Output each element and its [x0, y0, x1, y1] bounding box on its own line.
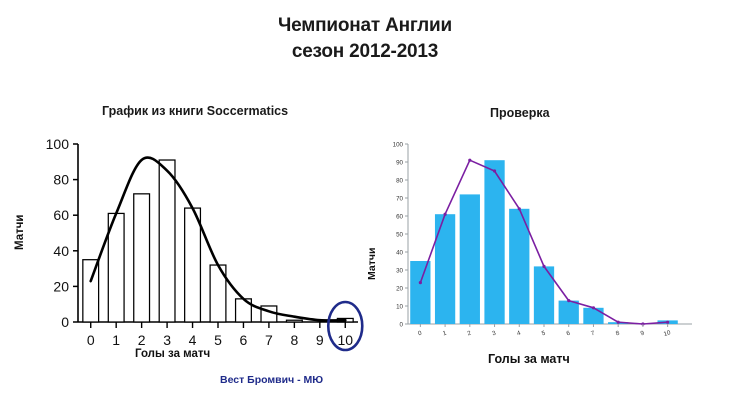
left-chart-panel: График из книги Soccermatics Матчи Голы …: [20, 98, 365, 398]
left-y-tick-label: 20: [53, 278, 69, 294]
right-x-tick-label: 4: [516, 330, 522, 338]
left-bar: [286, 320, 302, 322]
left-x-tick-label: 6: [240, 332, 248, 348]
left-chart-y-ticks: 020406080100: [46, 136, 78, 330]
slide-root: { "slide": { "title_line1": "Чемпионат А…: [0, 0, 730, 411]
left-x-tick-label: 8: [290, 332, 298, 348]
right-x-tick-label: 9: [640, 330, 646, 338]
left-y-tick-label: 40: [53, 243, 69, 259]
right-x-tick-label: 1: [442, 330, 448, 338]
right-y-tick-label: 60: [396, 213, 403, 220]
left-chart-svg: 020406080100 012345678910: [20, 130, 365, 390]
left-bar: [134, 194, 150, 322]
right-poisson-marker: [542, 265, 545, 268]
right-x-tick-label: 6: [566, 330, 572, 338]
right-poisson-marker: [592, 306, 595, 309]
right-poisson-marker: [443, 213, 446, 216]
right-x-tick-label: 2: [467, 330, 473, 338]
left-x-tick-label: 4: [189, 332, 197, 348]
left-y-tick-label: 0: [61, 314, 69, 330]
left-x-tick-label: 10: [337, 332, 353, 348]
page-title: Чемпионат Англии сезон 2012-2013: [0, 13, 730, 65]
right-x-tick-label: 10: [663, 329, 672, 338]
left-x-tick-label: 9: [316, 332, 324, 348]
left-chart-plot-area: 020406080100 012345678910: [20, 130, 365, 390]
right-bar: [484, 160, 504, 324]
left-y-tick-label: 100: [46, 136, 70, 152]
right-y-tick-label: 70: [396, 195, 403, 202]
left-bar: [185, 208, 201, 322]
right-y-tick-label: 10: [396, 303, 403, 310]
right-chart-plot-area: 0102030405060708090100 012345678910: [360, 128, 720, 378]
left-x-tick-label: 1: [112, 332, 120, 348]
left-chart-bars: [83, 160, 353, 322]
left-x-tick-label: 5: [214, 332, 222, 348]
right-chart-panel: Проверка Матчи Голы за матч 010203040506…: [360, 98, 720, 388]
right-x-tick-label: 8: [615, 330, 621, 338]
left-x-tick-label: 0: [87, 332, 95, 348]
page-title-line-1: Чемпионат Англии: [0, 13, 730, 39]
right-poisson-marker: [468, 159, 471, 162]
match-annotation-caption: Вест Бромвич - МЮ: [220, 374, 323, 386]
left-y-tick-label: 60: [53, 207, 69, 223]
right-poisson-marker: [617, 321, 620, 324]
right-bar: [410, 261, 430, 324]
left-x-tick-label: 7: [265, 332, 273, 348]
right-chart-title: Проверка: [490, 106, 550, 120]
left-bar: [159, 160, 175, 322]
right-y-tick-label: 100: [393, 141, 404, 148]
right-x-tick-label: 7: [590, 330, 596, 338]
right-bar: [583, 308, 603, 324]
right-y-tick-label: 0: [400, 321, 404, 328]
right-y-tick-label: 40: [396, 249, 403, 256]
left-x-tick-label: 2: [138, 332, 146, 348]
right-x-tick-label: 0: [417, 330, 423, 338]
right-x-tick-label: 3: [491, 330, 497, 338]
right-y-tick-label: 20: [396, 285, 403, 292]
right-poisson-marker: [518, 207, 521, 210]
right-poisson-marker: [419, 281, 422, 284]
right-chart-bars: [410, 160, 678, 324]
left-chart-title: График из книги Soccermatics: [102, 104, 288, 118]
right-poisson-marker: [493, 169, 496, 172]
left-x-tick-label: 3: [163, 332, 171, 348]
right-chart-y-ticks: 0102030405060708090100: [393, 141, 408, 328]
right-y-tick-label: 90: [396, 159, 403, 166]
page-title-line-2: сезон 2012-2013: [0, 39, 730, 65]
right-chart-x-ticks: 012345678910: [417, 324, 672, 338]
right-poisson-marker: [567, 299, 570, 302]
right-bar: [435, 214, 455, 324]
right-x-tick-label: 5: [541, 330, 547, 338]
right-y-tick-label: 50: [396, 231, 403, 238]
right-y-tick-label: 30: [396, 267, 403, 274]
left-y-tick-label: 80: [53, 172, 69, 188]
right-poisson-marker: [666, 321, 669, 324]
right-chart-svg: 0102030405060708090100 012345678910: [360, 128, 720, 378]
left-chart-x-ticks: 012345678910: [87, 322, 353, 348]
right-bar: [559, 301, 579, 324]
right-bar: [460, 194, 480, 324]
right-y-tick-label: 80: [396, 177, 403, 184]
